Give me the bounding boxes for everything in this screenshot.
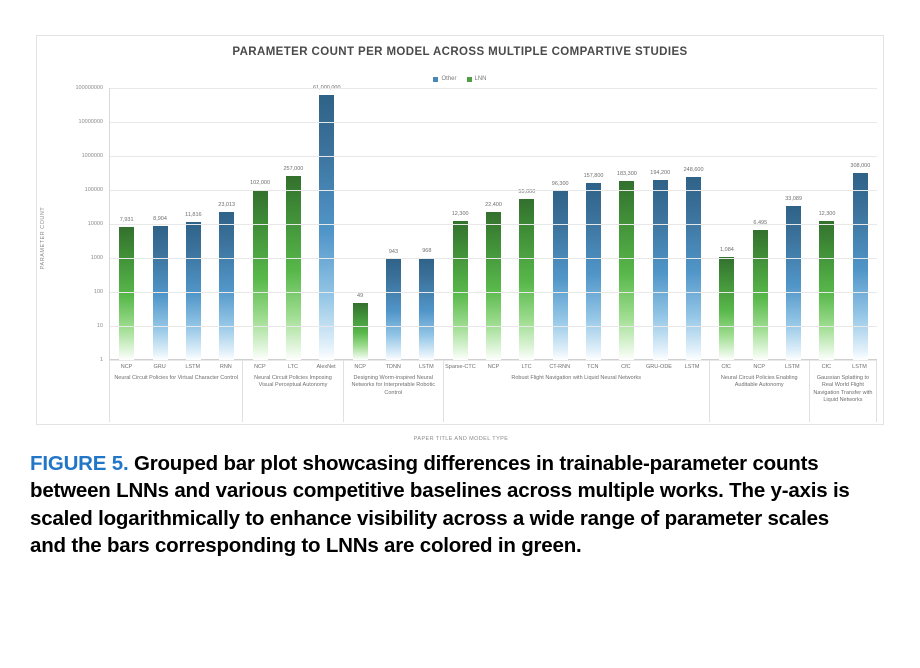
bar-value-label: 7,931: [120, 217, 134, 223]
y-axis-ticks: 1101001000100001000001000000100000001000…: [55, 88, 107, 360]
category-model-row: CfCNCPLSTM: [710, 360, 809, 373]
bar-ct-rnn[interactable]: 96,300: [553, 191, 568, 360]
bar-value-label: 22,400: [485, 202, 502, 208]
grid-line: [110, 88, 877, 89]
category-model-label: CfC: [609, 360, 642, 373]
y-axis-tick-label: 10: [97, 323, 103, 329]
figure-caption-text: Grouped bar plot showcasing differences …: [30, 452, 850, 557]
category-group: NCPGRULSTMRNNNeural Circuit Policies for…: [109, 360, 243, 422]
category-model-label: NCP: [477, 360, 510, 373]
bar-value-label: 943: [389, 249, 398, 255]
bar-alexnet[interactable]: 61,000,000: [319, 95, 334, 360]
y-axis-tick-label: 1: [100, 357, 103, 363]
category-group: NCPTDNNLSTMDesigning Worm-inspired Neura…: [344, 360, 444, 422]
category-model-label: TCN: [576, 360, 609, 373]
grid-line: [110, 326, 877, 327]
category-model-label: NCP: [110, 360, 143, 373]
bar-ncp[interactable]: 49: [353, 303, 368, 360]
category-model-label: LSTM: [776, 360, 809, 373]
category-group: NCPLTCAlexNetNeural Circuit Policies Imp…: [243, 360, 343, 422]
bar-value-label: 12,300: [452, 211, 469, 217]
category-paper-label: Robust Flight Navigation with Liquid Neu…: [444, 373, 709, 382]
bar-lstm[interactable]: 968: [419, 258, 434, 360]
chart-panel: PARAMETER COUNT PER MODEL ACROSS MULTIPL…: [36, 35, 884, 425]
plot-area: 7,9318,90411,81623,013102,000257,00061,0…: [109, 88, 877, 360]
bar-value-label: 248,600: [684, 167, 704, 173]
y-axis-tick-label: 1000000: [82, 153, 103, 159]
bar-lstm[interactable]: 248,600: [686, 177, 701, 360]
category-model-label: LSTM: [676, 360, 709, 373]
bar-value-label: 8,904: [153, 216, 167, 222]
category-group: Sparse-CTCNCPLTCCT-RNNTCNCfCGRU-ODELSTMR…: [444, 360, 710, 422]
bar-cfc[interactable]: 183,300: [619, 181, 634, 360]
bar-value-label: 23,013: [218, 202, 235, 208]
bar-value-label: 257,000: [283, 166, 303, 172]
category-model-label: CfC: [710, 360, 743, 373]
y-axis-tick-label: 100000: [85, 187, 103, 193]
bar-cfc[interactable]: 1,084: [719, 257, 734, 360]
category-model-label: GRU: [143, 360, 176, 373]
bar-value-label: 11,816: [185, 212, 201, 218]
bar-tdnn[interactable]: 943: [386, 259, 401, 360]
bar-ltc[interactable]: 257,000: [286, 176, 301, 360]
bar-cfc[interactable]: 12,300: [819, 221, 834, 360]
category-model-label: TDNN: [377, 360, 410, 373]
bar-lstm[interactable]: 11,816: [186, 222, 201, 360]
category-model-label: NCP: [743, 360, 776, 373]
chart-legend: OtherLNN: [37, 76, 883, 82]
category-model-label: Sparse-CTC: [444, 360, 477, 373]
legend-item-other[interactable]: Other: [433, 76, 456, 82]
bar-sparse-ctc[interactable]: 12,300: [453, 221, 468, 360]
category-model-label: CfC: [810, 360, 843, 373]
bar-lstm[interactable]: 33,089: [786, 206, 801, 360]
legend-item-lnn[interactable]: LNN: [467, 76, 487, 82]
bar-lstm[interactable]: 308,000: [853, 173, 868, 360]
category-group: CfCNCPLSTMNeural Circuit Policies Enabli…: [710, 360, 810, 422]
category-paper-label: Neural Circuit Policies Imposing Visual …: [243, 373, 342, 390]
bar-rnn[interactable]: 23,013: [219, 212, 234, 360]
category-group: CfCLSTMGaussian Splatting to Real World …: [810, 360, 877, 422]
category-model-label: LTC: [276, 360, 309, 373]
bar-value-label: 102,000: [250, 180, 270, 186]
plot-wrapper: PARAMETER COUNT 110100100010000100000100…: [37, 88, 885, 388]
figure-page: PARAMETER COUNT PER MODEL ACROSS MULTIPL…: [0, 0, 920, 668]
category-model-label: NCP: [243, 360, 276, 373]
legend-label: Other: [441, 76, 456, 82]
bar-value-label: 183,300: [617, 171, 637, 177]
y-axis-label: PARAMETER COUNT: [40, 207, 46, 269]
category-model-row: NCPLTCAlexNet: [243, 360, 342, 373]
category-model-row: NCPGRULSTMRNN: [110, 360, 242, 373]
grid-line: [110, 258, 877, 259]
bar-ncp[interactable]: 6,495: [753, 230, 768, 360]
bar-ncp[interactable]: 102,000: [253, 190, 268, 360]
y-axis-tick-label: 1000: [91, 255, 103, 261]
bar-ncp[interactable]: 22,400: [486, 212, 501, 360]
category-paper-label: Gaussian Splatting to Real World Flight …: [810, 373, 876, 405]
category-model-row: NCPTDNNLSTM: [344, 360, 443, 373]
category-model-label: LSTM: [410, 360, 443, 373]
bar-ncp[interactable]: 7,931: [119, 227, 134, 360]
category-model-label: AlexNet: [310, 360, 343, 373]
legend-swatch-icon: [467, 77, 472, 82]
bar-value-label: 194,200: [650, 170, 670, 176]
bar-ltc[interactable]: 55,000: [519, 199, 534, 360]
figure-caption: FIGURE 5. Grouped bar plot showcasing di…: [30, 450, 870, 559]
bar-value-label: 1,084: [720, 247, 734, 253]
y-axis-tick-label: 100: [94, 289, 103, 295]
category-model-row: CfCLSTM: [810, 360, 876, 373]
bar-value-label: 33,089: [785, 196, 802, 202]
category-axis: NCPGRULSTMRNNNeural Circuit Policies for…: [109, 360, 877, 422]
y-axis-tick-label: 100000000: [75, 85, 103, 91]
category-model-label: LSTM: [176, 360, 209, 373]
category-model-label: RNN: [209, 360, 242, 373]
category-model-label: CT-RNN: [543, 360, 576, 373]
category-model-label: GRU-ODE: [642, 360, 675, 373]
category-model-label: LSTM: [843, 360, 876, 373]
grid-line: [110, 190, 877, 191]
bar-value-label: 308,000: [850, 163, 870, 169]
bar-value-label: 96,300: [552, 181, 569, 187]
y-axis-tick-label: 10000000: [79, 119, 103, 125]
legend-swatch-icon: [433, 77, 438, 82]
bar-value-label: 12,300: [819, 211, 836, 217]
category-model-label: LTC: [510, 360, 543, 373]
grid-line: [110, 292, 877, 293]
x-axis-label: PAPER TITLE AND MODEL TYPE: [37, 436, 885, 442]
bar-tcn[interactable]: 157,800: [586, 183, 601, 360]
grid-line: [110, 224, 877, 225]
category-model-row: Sparse-CTCNCPLTCCT-RNNTCNCfCGRU-ODELSTM: [444, 360, 709, 373]
category-paper-label: Designing Worm-inspired Neural Networks …: [344, 373, 443, 397]
category-model-label: NCP: [344, 360, 377, 373]
legend-label: LNN: [475, 76, 487, 82]
bar-value-label: 49: [357, 293, 363, 299]
grid-line: [110, 122, 877, 123]
bar-value-label: 968: [422, 248, 431, 254]
chart-title: PARAMETER COUNT PER MODEL ACROSS MULTIPL…: [37, 46, 883, 58]
grid-line: [110, 156, 877, 157]
y-axis-tick-label: 10000: [88, 221, 103, 227]
figure-number: FIGURE 5.: [30, 452, 128, 475]
category-paper-label: Neural Circuit Policies Enabling Auditab…: [710, 373, 809, 390]
bar-gru-ode[interactable]: 194,200: [653, 180, 668, 360]
category-paper-label: Neural Circuit Policies for Virtual Char…: [110, 373, 242, 382]
bar-value-label: 157,800: [584, 173, 604, 179]
